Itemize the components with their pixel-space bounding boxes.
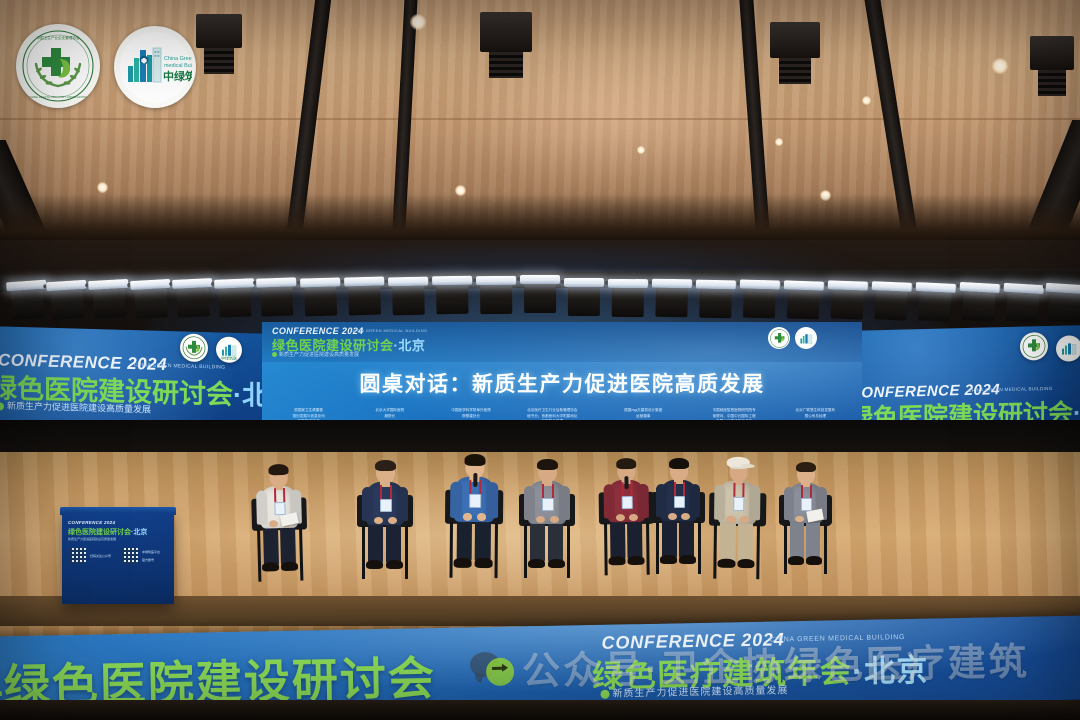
podium-qr-code — [70, 548, 86, 564]
light-lens — [300, 277, 340, 287]
stage-light — [88, 279, 131, 327]
svg-text:中绿筑医: 中绿筑医 — [221, 355, 237, 361]
shoe — [806, 556, 822, 565]
hair — [616, 458, 636, 469]
green-cross-leaf-icon — [182, 335, 206, 360]
hair — [464, 454, 485, 466]
ceiling-shadow — [0, 194, 1080, 246]
ceiling-downlight — [637, 146, 645, 154]
stage-light — [739, 280, 780, 327]
led-header-tagline-row: 新质生产力促进医院建设高质量发展 — [272, 351, 359, 358]
podium-cn-blue: ·北京 — [131, 529, 147, 536]
led-logo-cgmb — [795, 327, 817, 349]
logo-cn: 中绿筑医 — [163, 69, 192, 83]
name-badge — [674, 496, 685, 509]
panelist-affiliation-line: 院基建处长 — [430, 414, 511, 420]
light-body — [524, 279, 556, 313]
green-building-icon — [1058, 337, 1080, 360]
name-badge — [733, 497, 744, 510]
bullet-arrow-icon — [272, 352, 277, 357]
podium-cn: 绿色医院建设研讨会·北京 — [68, 527, 147, 537]
bullet-arrow-icon — [0, 402, 4, 410]
green-cross-leaf-icon: 中国卫生产业企业管理协会 CHINA HEALTH INDUSTRY ASSOC… — [20, 28, 96, 104]
hair — [796, 462, 815, 473]
light-lens — [608, 279, 648, 288]
shoe — [627, 556, 644, 565]
floor-apron — [0, 700, 1080, 720]
panelist-body — [652, 456, 715, 585]
left-banner-tagline: 新质生产力促进医院建设高质量发展 — [7, 401, 151, 415]
panelist-figure-7 — [709, 456, 777, 591]
panelist-figure-8 — [780, 460, 841, 585]
stage-light — [914, 282, 956, 330]
green-building-icon: 中绿筑医 — [218, 338, 240, 361]
panelist-affiliation-line: 限公司总经理 — [775, 414, 856, 420]
podium-conference: CONFERENCE 2024 — [68, 520, 115, 525]
lanyard — [274, 488, 276, 502]
light-lens — [214, 278, 254, 289]
hanging-light-fixture — [1030, 36, 1074, 70]
stage-light — [958, 282, 1000, 330]
shoe — [386, 560, 403, 569]
name-badge — [542, 498, 553, 511]
right-banner-logo-cgmb — [1056, 335, 1080, 362]
panelist-figure-4 — [520, 457, 585, 590]
hair — [537, 459, 557, 470]
panelist-affiliation-line: 运营董事 — [593, 414, 694, 420]
lanyard — [621, 482, 623, 496]
panelist-figure-1 — [251, 461, 318, 593]
green-building-icon — [797, 329, 816, 348]
shoe — [679, 555, 696, 564]
hand — [477, 513, 487, 520]
stage-light — [520, 275, 560, 321]
arm — [362, 487, 373, 522]
podium-tagline: 新质生产力促进医院建设高质量发展 — [68, 537, 116, 541]
panelist-body — [709, 456, 777, 591]
stage-light — [300, 277, 341, 324]
shoe — [788, 556, 804, 565]
stage-light — [46, 280, 89, 328]
shoe — [737, 559, 755, 568]
right-banner-logo-health — [1020, 332, 1048, 361]
lanyard — [630, 482, 632, 496]
arm — [784, 487, 795, 520]
green-cross-leaf-icon — [770, 329, 789, 348]
ceiling-downlight — [775, 138, 783, 146]
lanyard — [674, 482, 676, 496]
arm — [256, 490, 268, 524]
panelist-figure-3 — [445, 452, 514, 590]
stage-light — [1043, 283, 1080, 332]
podium-side-caption-1: 中绿筑医平台 — [142, 550, 160, 555]
led-header-cn-blue: ·北京 — [394, 338, 426, 353]
ceiling-downlight — [410, 14, 426, 30]
podium-qr-caption: 扫码关注公众号 — [90, 554, 111, 559]
shoe — [528, 559, 545, 568]
ceiling-downlight — [97, 182, 108, 193]
panelist-figure-2 — [358, 458, 423, 591]
bullet-arrow-icon — [600, 690, 609, 699]
stage-light — [388, 276, 429, 323]
shoe — [262, 562, 279, 571]
lanyard — [479, 480, 481, 495]
panelist-affiliation-line: 副院长 — [349, 414, 430, 420]
stage-light — [651, 279, 692, 326]
hand — [388, 517, 397, 524]
lanyard — [283, 488, 285, 502]
logo-ring-text-cn: 中国卫生产业企业管理协会 — [36, 35, 80, 40]
arm — [714, 484, 726, 519]
panelist-body — [780, 460, 841, 585]
light-body — [436, 280, 468, 314]
left-banner-logo-cgmb: 中绿筑医 — [216, 336, 242, 363]
podium-account-icon — [122, 548, 138, 564]
light-lens — [388, 276, 428, 286]
logo-en-line1: China Green — [164, 56, 192, 62]
hand — [629, 514, 638, 521]
light-lens — [916, 282, 956, 293]
arm — [397, 487, 408, 522]
national-health-industry-association-logo: 中国卫生产业企业管理协会 CHINA HEALTH INDUSTRY ASSOC… — [16, 24, 100, 108]
left-banner-title-green2: 研讨会 — [152, 378, 233, 410]
light-lens — [652, 279, 692, 289]
name-badge — [801, 498, 812, 511]
front-banner-tagline: 新质生产力促进医院建设高质量发展 — [612, 685, 788, 699]
green-building-icon: China Green medical Building 中绿筑医 — [118, 30, 192, 104]
china-green-medical-building-logo: China Green medical Building 中绿筑医 — [114, 26, 196, 108]
stage-light — [344, 277, 385, 324]
logo-en-line2: medical Building — [164, 63, 192, 69]
arm — [524, 486, 535, 521]
arm — [604, 484, 615, 518]
conference-photo: 中国卫生产业企业管理协会 CHINA HEALTH INDUSTRY ASSOC… — [0, 0, 1080, 720]
microphone — [473, 473, 477, 487]
light-lens — [872, 281, 912, 292]
hanging-light-fixture — [770, 22, 820, 58]
led-header-tagline: 新质生产力促进医院建设高质量发展 — [279, 352, 359, 358]
front-banner-cn-blue: ·北京 — [852, 653, 929, 689]
name-badge — [380, 499, 391, 512]
stage-light — [172, 278, 214, 326]
right-banner-conference-sub: CHINA GREEN MEDICAL BUILDING — [968, 386, 1053, 393]
shoe — [281, 562, 298, 571]
name-badge — [274, 502, 285, 515]
left-banner-logo-health — [180, 333, 208, 362]
shoe — [718, 559, 736, 568]
podium-cn-green: 绿色医院建设研讨会 — [68, 529, 131, 536]
hanging-light-fixture — [480, 12, 532, 52]
panelist-body — [520, 457, 585, 590]
microphone — [624, 476, 628, 489]
arm — [638, 484, 649, 518]
ceiling-downlight — [992, 58, 1008, 74]
hair — [669, 458, 689, 469]
logo-ring-text-en: CHINA HEALTH INDUSTRY ASSOCIATION — [29, 95, 88, 99]
lanyard — [552, 484, 554, 498]
front-banner-conference-sub: CHINA GREEN MEDICAL BUILDING — [769, 634, 905, 644]
stage-light — [1001, 282, 1044, 330]
stage-light — [476, 276, 516, 322]
hand — [616, 514, 625, 521]
panelist-figure-6 — [652, 456, 715, 585]
green-cross-leaf-icon — [1022, 334, 1046, 359]
stage-back-shadow — [0, 420, 1080, 456]
name-badge — [622, 496, 633, 509]
lanyard — [470, 479, 472, 494]
ceiling-seam — [0, 118, 1080, 120]
light-body — [655, 283, 687, 317]
lanyard — [733, 483, 735, 497]
arm — [656, 484, 667, 518]
arm — [486, 482, 498, 518]
stage-light — [608, 279, 648, 325]
arm — [690, 484, 701, 518]
light-lens — [740, 280, 780, 290]
light-lens — [476, 276, 516, 285]
hanging-light-fixture — [196, 14, 242, 48]
stage-light — [130, 279, 172, 327]
shoe — [366, 560, 383, 569]
lanyard — [683, 482, 685, 496]
light-lens — [784, 280, 824, 290]
panelist-body — [251, 461, 318, 593]
hair — [268, 464, 288, 476]
lanyard — [380, 485, 382, 499]
hand — [740, 516, 749, 523]
lanyard — [810, 485, 812, 498]
shoe — [474, 558, 492, 568]
lanyard — [390, 485, 392, 499]
light-lens — [520, 275, 560, 284]
panelist-body — [358, 458, 423, 591]
led-conference-sub: CHINA GREEN MEDICAL BUILDING — [350, 328, 428, 333]
stage-light — [214, 278, 256, 326]
front-banner-tagline-row: 新质生产力促进医院建设高质量发展 — [600, 681, 788, 700]
stage-light — [870, 281, 912, 329]
lanyard — [542, 484, 544, 498]
light-lens — [564, 278, 604, 287]
arm — [749, 485, 761, 520]
shoe — [660, 555, 677, 564]
lanyard — [801, 485, 803, 498]
panelist-body — [445, 452, 514, 590]
shoe — [548, 559, 565, 568]
session-title: 圆桌对话：新质生产力促进医院高质发展 — [262, 368, 862, 398]
light-lens — [1003, 282, 1043, 293]
light-lens — [432, 276, 472, 286]
lanyard — [742, 483, 744, 497]
stage-light — [783, 280, 824, 327]
stage-light — [256, 278, 298, 325]
stage-light — [432, 276, 473, 323]
stage-light — [564, 278, 604, 324]
led-logo-health — [768, 327, 790, 349]
hair — [375, 460, 395, 471]
hand — [550, 516, 559, 523]
arm — [559, 486, 570, 521]
podium: CONFERENCE 2024 绿色医院建设研讨会·北京 新质生产力促进医院建设… — [62, 512, 174, 604]
light-lens — [696, 279, 736, 289]
ceiling-downlight — [862, 96, 871, 105]
arm — [450, 481, 462, 517]
shoe — [608, 556, 625, 565]
light-lens — [344, 277, 384, 287]
name-badge — [469, 494, 481, 508]
stage-light — [695, 279, 736, 326]
shoe — [454, 558, 472, 568]
podium-side-caption-2: 官方账号 — [142, 558, 154, 563]
light-body — [568, 282, 600, 316]
hand — [726, 516, 735, 523]
